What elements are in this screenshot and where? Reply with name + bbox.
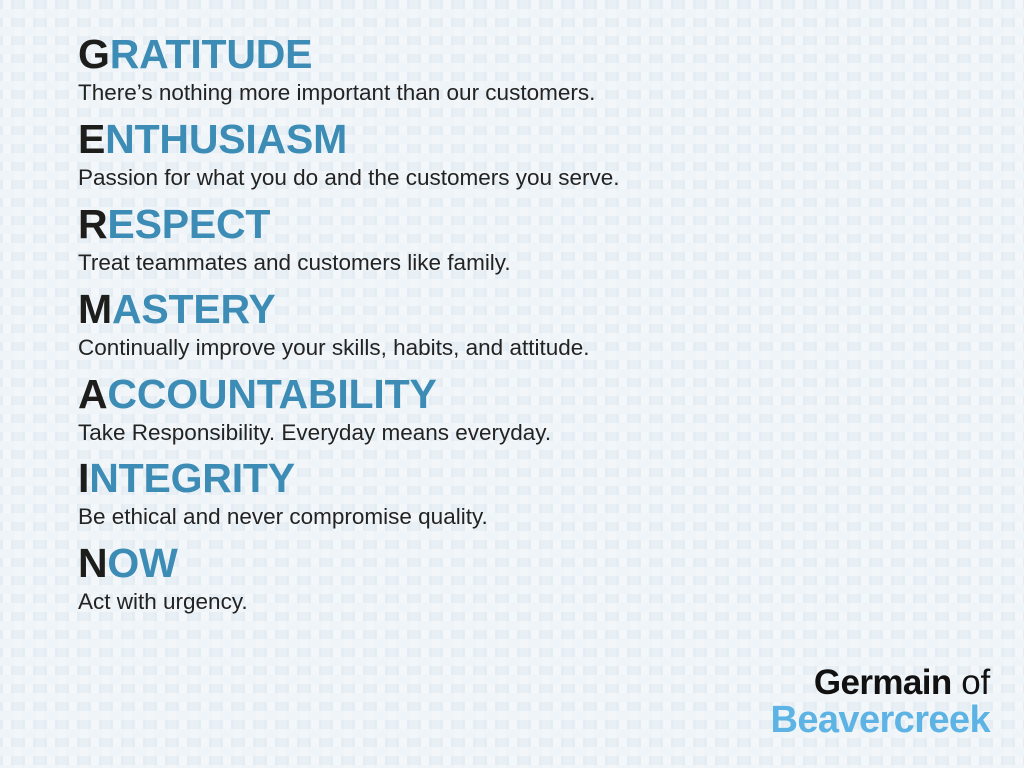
value-subtitle-accountability: Take Responsibility. Everyday means ever…	[78, 420, 1024, 446]
value-initial-letter: I	[78, 455, 89, 501]
value-initial-letter: M	[78, 286, 112, 332]
values-list: GRATITUDE There’s nothing more important…	[0, 0, 1024, 615]
logo-connector: of	[961, 663, 990, 702]
value-heading-mastery: MASTERY	[78, 289, 1024, 330]
value-item-now: NOW Act with urgency.	[78, 543, 1024, 615]
value-initial-letter: G	[78, 31, 110, 77]
value-item-respect: RESPECT Treat teammates and customers li…	[78, 204, 1024, 276]
value-heading-respect: RESPECT	[78, 204, 1024, 245]
core-values-poster: GRATITUDE There’s nothing more important…	[0, 0, 1024, 768]
dealership-logo: Germain of Beavercreek	[771, 665, 991, 740]
value-subtitle-now: Act with urgency.	[78, 589, 1024, 615]
value-heading-integrity: INTEGRITY	[78, 458, 1024, 499]
logo-primary-line: Germain of	[771, 665, 991, 701]
value-remaining-letters: NTHUSIASM	[105, 116, 347, 162]
value-subtitle-enthusiasm: Passion for what you do and the customer…	[78, 165, 1024, 191]
value-item-integrity: INTEGRITY Be ethical and never compromis…	[78, 458, 1024, 530]
logo-connector-word	[952, 663, 962, 702]
value-remaining-letters: OW	[107, 540, 177, 586]
value-heading-now: NOW	[78, 543, 1024, 584]
value-remaining-letters: CCOUNTABILITY	[107, 371, 436, 417]
value-remaining-letters: ASTERY	[112, 286, 276, 332]
value-initial-letter: A	[78, 371, 107, 417]
value-heading-accountability: ACCOUNTABILITY	[78, 374, 1024, 415]
value-heading-gratitude: GRATITUDE	[78, 34, 1024, 75]
value-item-gratitude: GRATITUDE There’s nothing more important…	[78, 34, 1024, 106]
value-heading-enthusiasm: ENTHUSIASM	[78, 119, 1024, 160]
value-item-accountability: ACCOUNTABILITY Take Responsibility. Ever…	[78, 374, 1024, 446]
logo-location-name: Beavercreek	[771, 701, 991, 740]
value-remaining-letters: NTEGRITY	[89, 455, 295, 501]
value-subtitle-mastery: Continually improve your skills, habits,…	[78, 335, 1024, 361]
value-remaining-letters: RATITUDE	[110, 31, 313, 77]
value-subtitle-integrity: Be ethical and never compromise quality.	[78, 504, 1024, 530]
value-item-enthusiasm: ENTHUSIASM Passion for what you do and t…	[78, 119, 1024, 191]
value-initial-letter: R	[78, 201, 107, 247]
value-item-mastery: MASTERY Continually improve your skills,…	[78, 289, 1024, 361]
logo-brand-name: Germain	[814, 663, 952, 702]
value-initial-letter: E	[78, 116, 105, 162]
value-subtitle-respect: Treat teammates and customers like famil…	[78, 250, 1024, 276]
value-subtitle-gratitude: There’s nothing more important than our …	[78, 80, 1024, 106]
value-initial-letter: N	[78, 540, 107, 586]
value-remaining-letters: ESPECT	[107, 201, 270, 247]
